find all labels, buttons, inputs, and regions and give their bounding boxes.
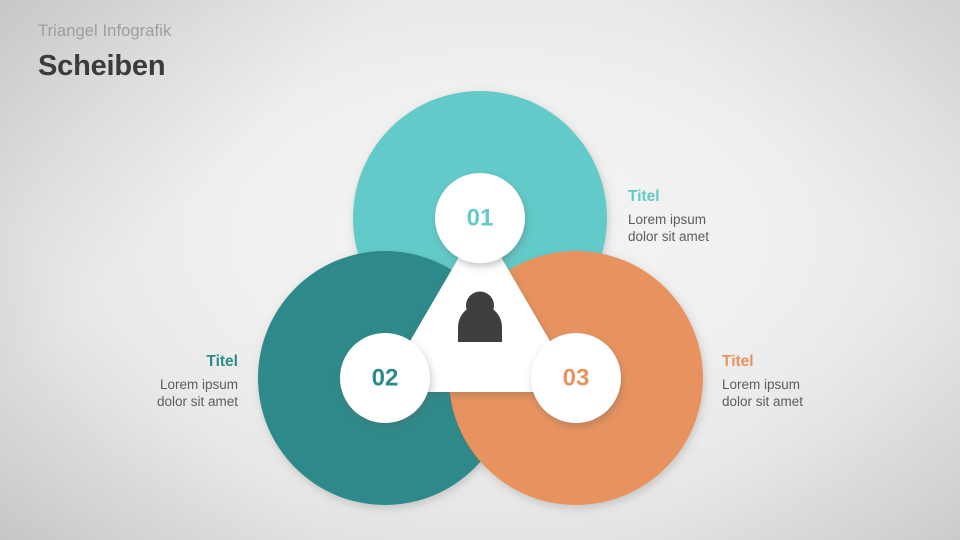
callout-segment-01[interactable]: Titel Lorem ipsum dolor sit amet <box>628 187 709 245</box>
node-01[interactable]: 01 <box>435 173 525 263</box>
callout-title-01: Titel <box>628 187 709 207</box>
callout-body-01: Lorem ipsum dolor sit amet <box>628 211 709 246</box>
node-label-02: 02 <box>372 365 399 392</box>
node-label-01: 01 <box>467 205 494 232</box>
node-label-03: 03 <box>563 365 590 392</box>
slide-eyebrow: Triangel Infografik <box>38 22 171 40</box>
node-03[interactable]: 03 <box>531 333 621 423</box>
callout-segment-02[interactable]: Titel Lorem ipsum dolor sit amet <box>157 352 238 410</box>
callout-body-02: Lorem ipsum dolor sit amet <box>157 376 238 411</box>
node-02[interactable]: 02 <box>340 333 430 423</box>
callout-title-02: Titel <box>157 352 238 372</box>
callout-title-03: Titel <box>722 352 803 372</box>
slide-canvas: Triangel Infografik Scheiben <box>0 0 960 540</box>
callout-body-03: Lorem ipsum dolor sit amet <box>722 376 803 411</box>
callout-segment-03[interactable]: Titel Lorem ipsum dolor sit amet <box>722 352 803 410</box>
page-title: Scheiben <box>38 51 171 81</box>
slide-heading: Triangel Infografik Scheiben <box>38 22 171 82</box>
